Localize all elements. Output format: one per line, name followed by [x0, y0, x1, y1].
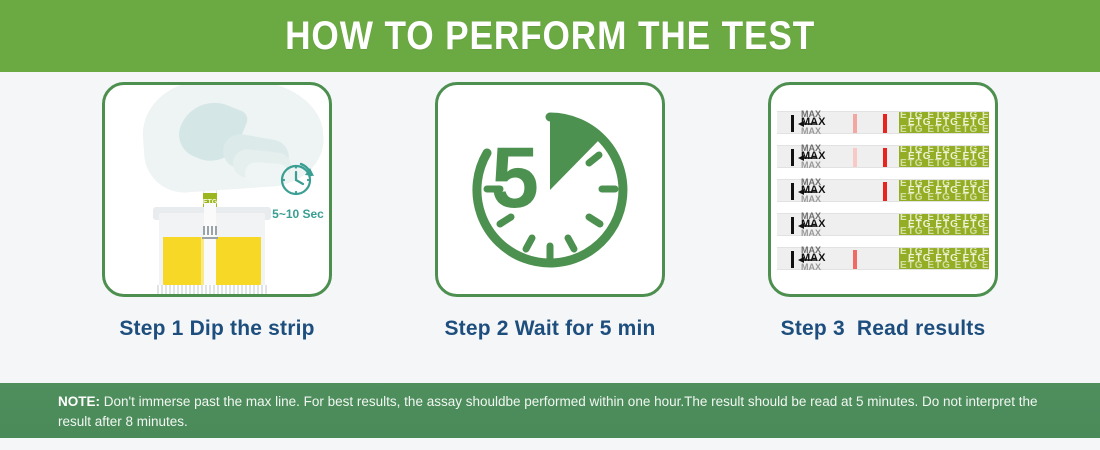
strip-submerged-part	[204, 203, 216, 291]
max-label-ghost-bottom: MAX	[801, 195, 821, 204]
cup-base	[155, 285, 269, 294]
etg-label-row: ETG ETG ETG ETG ETG ETG ETG	[900, 260, 989, 269]
header-banner: HOW TO PERFORM THE TEST	[0, 0, 1100, 72]
dip-strip-illustration: ETG STRIP ETG	[105, 85, 329, 294]
strip-result-1: MAXMAXMAXETG ETG ETG ETG ETG ETG ETG ETG…	[777, 111, 989, 134]
page-title: HOW TO PERFORM THE TEST	[285, 14, 815, 59]
max-label-ghost-bottom: MAX	[801, 127, 821, 136]
etg-label-row: ETG ETG ETG ETG ETG ETG ETG	[900, 124, 989, 133]
etg-pad: ETG ETG ETG ETG ETG ETG ETG ETG ETG ETG …	[899, 146, 989, 167]
timer-number: 5	[491, 130, 539, 226]
step-1-card: ETG STRIP ETG	[102, 82, 332, 297]
strip-result-3: MAXMAXMAXETG ETG ETG ETG ETG ETG ETG ETG…	[777, 179, 989, 202]
dip-time-caption: 5~10 Sec	[263, 207, 332, 221]
etg-pad: ETG ETG ETG ETG ETG ETG ETG ETG ETG ETG …	[899, 112, 989, 133]
note-prefix: NOTE:	[58, 394, 100, 409]
result-strips-illustration: MAXMAXMAXETG ETG ETG ETG ETG ETG ETG ETG…	[771, 85, 995, 294]
steps-row: ETG STRIP ETG	[0, 82, 1100, 372]
step-1-column: ETG STRIP ETG	[51, 82, 384, 341]
clock-arrow-icon	[276, 159, 320, 199]
max-label-ghost-bottom: MAX	[801, 263, 821, 272]
step-3-card: MAXMAXMAXETG ETG ETG ETG ETG ETG ETG ETG…	[768, 82, 998, 297]
etg-pad: ETG ETG ETG ETG ETG ETG ETG ETG ETG ETG …	[899, 180, 989, 201]
strip-result-2: MAXMAXMAXETG ETG ETG ETG ETG ETG ETG ETG…	[777, 145, 989, 168]
step-2-column: 5 Step 2 Wait for 5 min	[384, 82, 717, 341]
step-1-label: Step 1 Dip the strip	[119, 317, 314, 341]
strip-end-bar	[791, 115, 794, 132]
step-2-card: 5	[435, 82, 665, 297]
max-label-ghost-bottom: MAX	[801, 161, 821, 170]
max-hatch-mark	[203, 226, 217, 235]
timer-dial-icon: 5	[457, 97, 643, 283]
note-body: Don't immerse past the max line. For bes…	[58, 394, 1038, 429]
result-line-2	[883, 114, 887, 133]
strip-end-bar	[791, 149, 794, 166]
note-bar: NOTE: Don't immerse past the max line. F…	[0, 383, 1100, 438]
strip-end-bar	[791, 217, 794, 234]
strip-end-bar	[791, 251, 794, 268]
instruction-infographic: HOW TO PERFORM THE TEST ETG STRIP ETG	[0, 0, 1100, 450]
step-3-label: Step 3 Read results	[781, 317, 986, 341]
etg-pad: ETG ETG ETG ETG ETG ETG ETG ETG ETG ETG …	[899, 214, 989, 235]
note-text: NOTE: Don't immerse past the max line. F…	[58, 392, 1048, 433]
step-2-label: Step 2 Wait for 5 min	[444, 317, 655, 341]
result-line-1	[853, 250, 857, 269]
max-fill-line	[202, 237, 218, 239]
etg-label-row: ETG ETG ETG ETG ETG ETG ETG	[900, 158, 989, 167]
max-label-ghost-bottom: MAX	[801, 229, 821, 238]
strip-result-5: MAXMAXMAXETG ETG ETG ETG ETG ETG ETG ETG…	[777, 247, 989, 270]
result-line-1	[853, 148, 857, 167]
dip-timer-group: 5~10 Sec	[263, 159, 332, 221]
strip-result-4: MAXMAXMAXETG ETG ETG ETG ETG ETG ETG ETG…	[777, 213, 989, 236]
step-3-column: MAXMAXMAXETG ETG ETG ETG ETG ETG ETG ETG…	[717, 82, 1050, 341]
strip-end-bar	[791, 183, 794, 200]
etg-label-row: ETG ETG ETG ETG ETG ETG ETG	[900, 226, 989, 235]
etg-pad: ETG ETG ETG ETG ETG ETG ETG ETG ETG ETG …	[899, 248, 989, 269]
etg-label-row: ETG ETG ETG ETG ETG ETG ETG	[900, 192, 989, 201]
result-line-2	[883, 148, 887, 167]
result-line-1	[883, 182, 887, 201]
result-line-1	[853, 114, 857, 133]
wait-timer-illustration: 5	[438, 85, 662, 294]
